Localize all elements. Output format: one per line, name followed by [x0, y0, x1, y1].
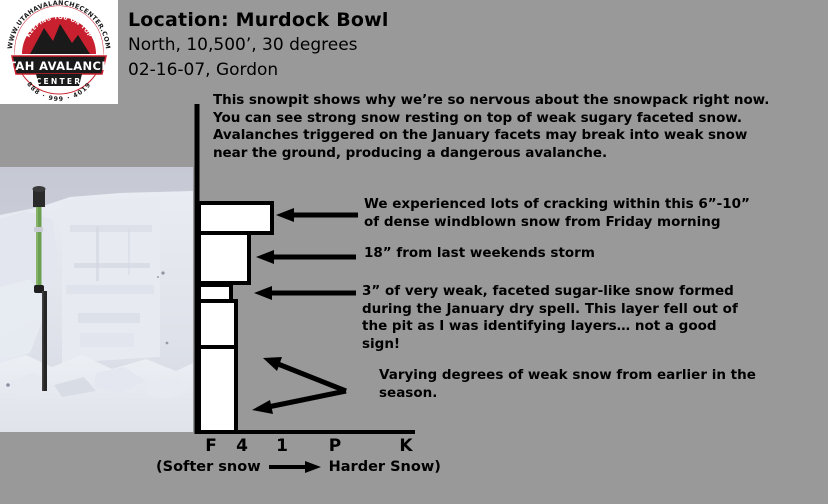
- annotation-line: 18” from last weekends storm: [364, 245, 824, 263]
- x-tick-p: P: [322, 436, 348, 456]
- axis-caption-right: Harder Snow): [329, 459, 441, 475]
- annotation-line: during the January dry spell. This layer…: [362, 301, 822, 319]
- hardness-axis-caption: (Softer snow Harder Snow): [156, 459, 456, 475]
- annotation-line: Varying degrees of weak snow from earlie…: [379, 367, 819, 385]
- snowpit-report-page: WWW.UTAHAVALANCHECENTER.COM KEEPING YOU …: [0, 0, 828, 504]
- annotation-line: of dense windblown snow from Friday morn…: [364, 214, 824, 232]
- annotation-line: sign!: [362, 336, 822, 354]
- annotation-january-facets: 3” of very weak, faceted sugar-like snow…: [362, 283, 822, 353]
- x-tick-k: K: [393, 436, 419, 456]
- annotation-line: the pit as I was identifying layers… not…: [362, 318, 822, 336]
- x-tick-1: 1: [269, 436, 295, 456]
- annotation-weak-snow-earlier-season: Varying degrees of weak snow from earlie…: [379, 367, 819, 402]
- hardness-direction-arrow: [267, 460, 323, 474]
- x-tick-f: F: [198, 436, 224, 456]
- annotation-line: 3” of very weak, faceted sugar-like snow…: [362, 283, 822, 301]
- annotation-line: season.: [379, 385, 819, 403]
- annotation-last-weekends-storm: 18” from last weekends storm: [364, 245, 824, 263]
- axis-caption-left: (Softer snow: [156, 459, 261, 475]
- annotation-friday-windblown-slab: We experienced lots of cracking within t…: [364, 196, 824, 231]
- x-tick-4: 4: [229, 436, 255, 456]
- annotation-line: We experienced lots of cracking within t…: [364, 196, 824, 214]
